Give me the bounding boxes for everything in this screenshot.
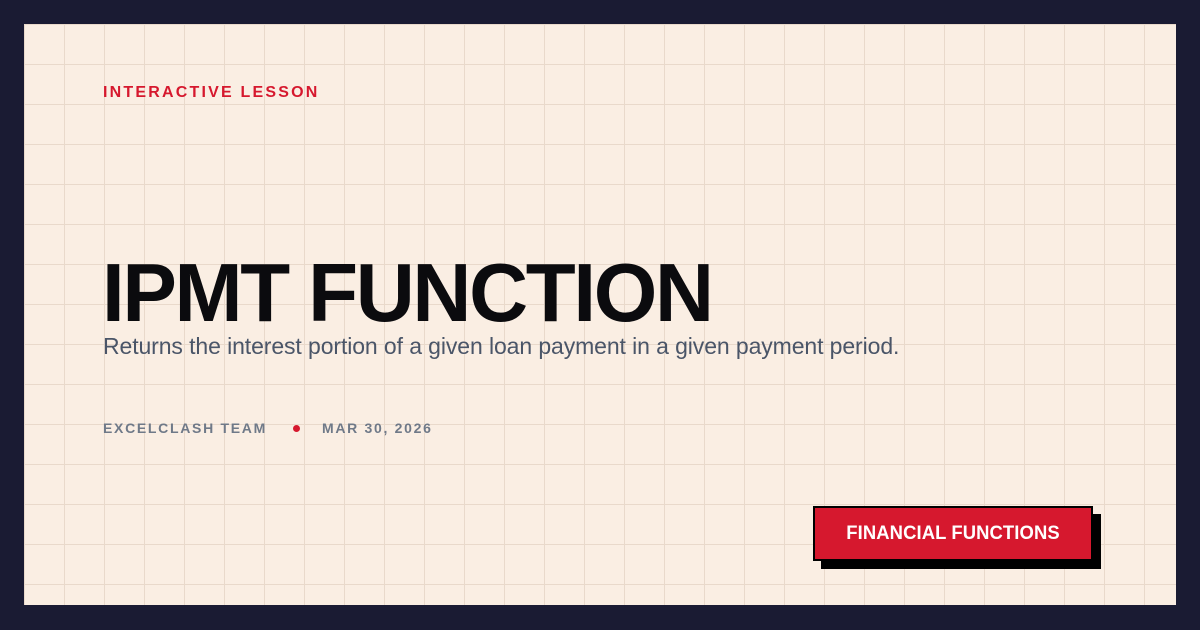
byline: EXCELCLASH TEAM MAR 30, 2026 xyxy=(103,420,433,436)
banner-frame: INTERACTIVE LESSON IPMT FUNCTION Returns… xyxy=(0,0,1200,630)
byline-date: MAR 30, 2026 xyxy=(322,420,433,436)
page-subtitle: Returns the interest portion of a given … xyxy=(103,328,983,365)
red-dot-icon xyxy=(293,425,300,432)
category-badge-wrapper: FINANCIAL FUNCTIONS xyxy=(789,485,1109,549)
eyebrow-label: INTERACTIVE LESSON xyxy=(103,84,320,102)
byline-author: EXCELCLASH TEAM xyxy=(103,420,267,436)
category-badge[interactable]: FINANCIAL FUNCTIONS xyxy=(813,506,1093,561)
page-title: IPMT FUNCTION xyxy=(102,251,712,334)
category-badge-label: FINANCIAL FUNCTIONS xyxy=(846,523,1059,545)
banner-panel: INTERACTIVE LESSON IPMT FUNCTION Returns… xyxy=(24,24,1176,605)
